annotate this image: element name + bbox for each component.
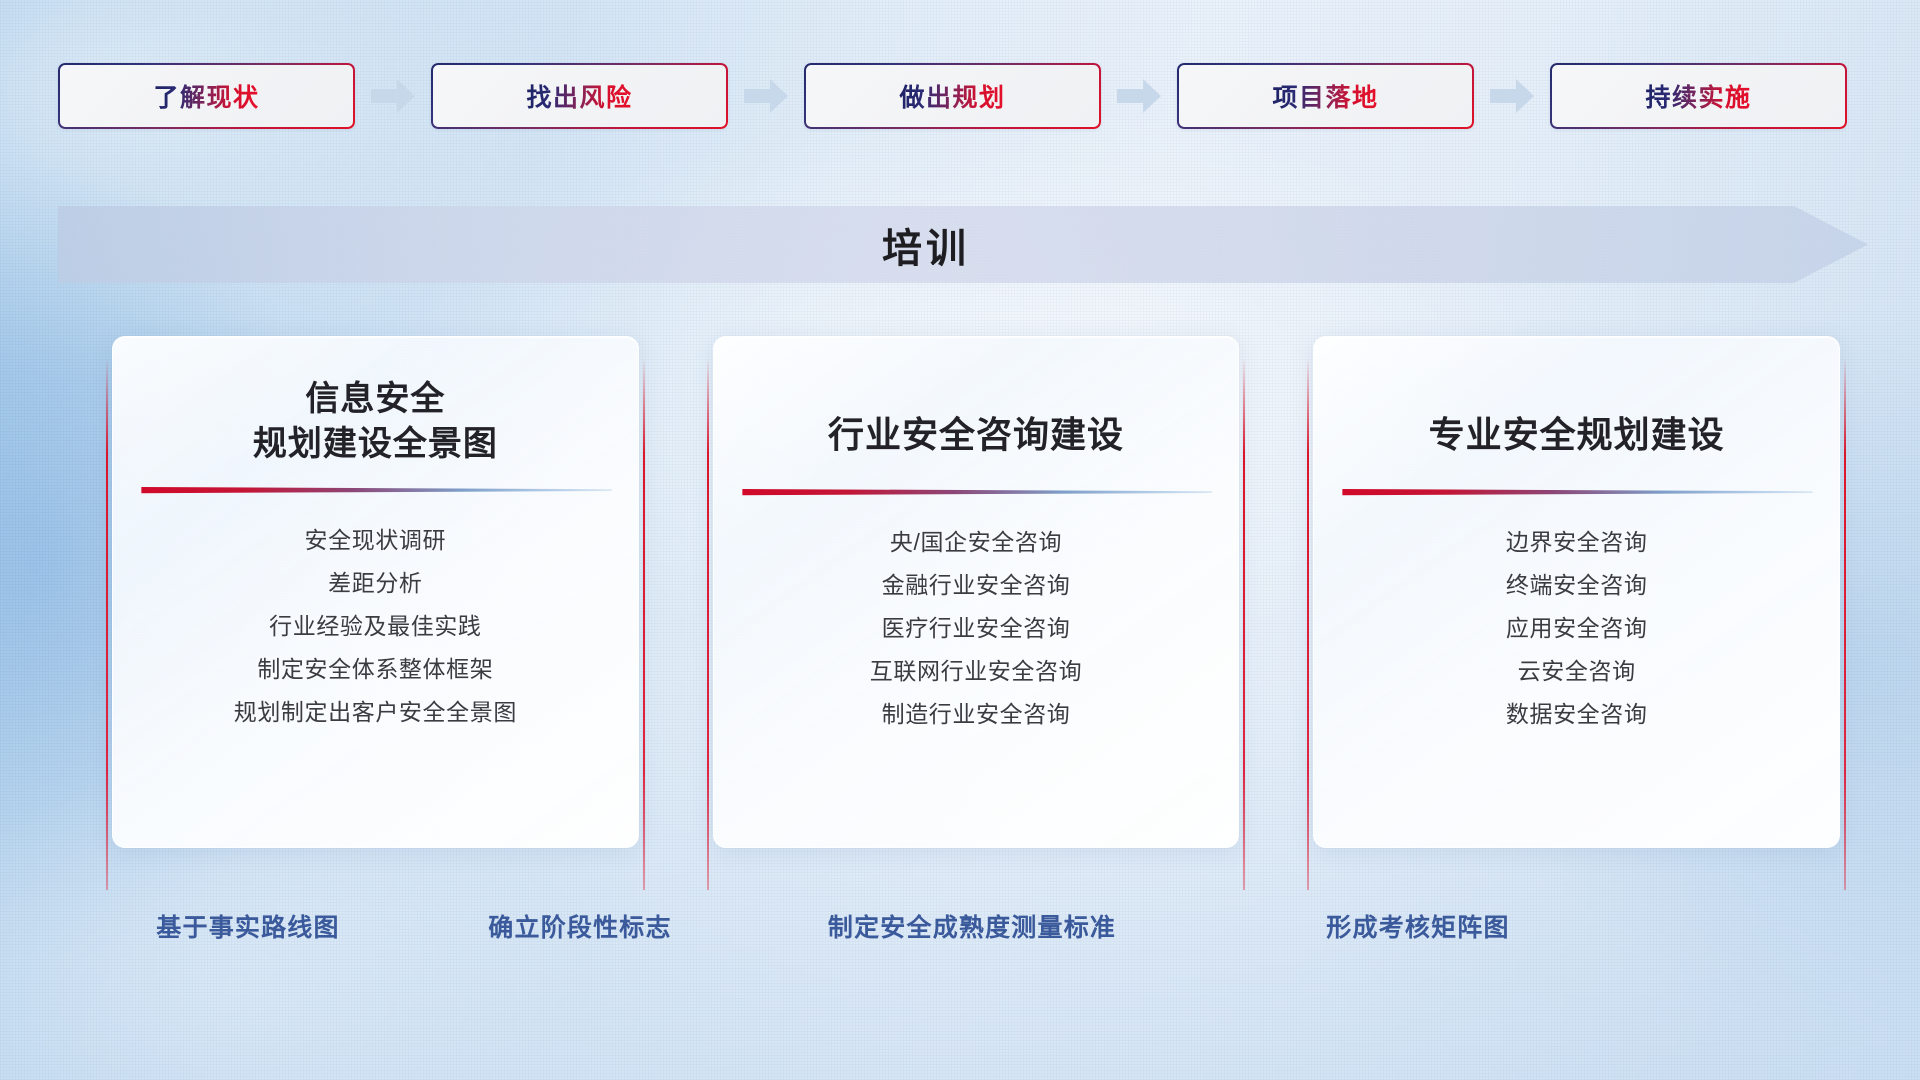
list-item: 终端安全咨询 (1340, 564, 1813, 607)
card-1-title-line-1: 信息安全 (253, 377, 498, 422)
caption-row: 基于事实路线图 确立阶段性标志 制定安全成熟度测量标准 形成考核矩阵图 (0, 908, 1920, 952)
card-2-title-line-1: 行业安全咨询建设 (828, 411, 1124, 459)
process-step-row: 了解现状 找出风险 做出规划 项目落地 持续实施 (58, 62, 1864, 130)
process-step-4-label: 项目落地 (1272, 78, 1378, 114)
card-3-title: 专业安全规划建设 (1429, 411, 1725, 459)
arrow-right-icon-4 (1474, 76, 1550, 116)
list-item: 金融行业安全咨询 (740, 564, 1213, 607)
caption-2: 确立阶段性标志 (488, 908, 671, 944)
arrow-right-icon-3 (1101, 76, 1177, 116)
card-1-list: 安全现状调研 差距分析 行业经验及最佳实践 制定安全体系整体框架 规划制定出客户… (139, 519, 612, 734)
card-2-edge-left (707, 358, 709, 890)
process-step-1[interactable]: 了解现状 (58, 63, 355, 129)
card-2-edge-right (1243, 358, 1245, 890)
card-3-edge-right (1844, 358, 1846, 890)
card-3-divider (1340, 487, 1813, 497)
process-step-1-label: 了解现状 (153, 78, 259, 114)
list-item: 数据安全咨询 (1340, 693, 1813, 736)
list-item: 应用安全咨询 (1340, 607, 1813, 650)
list-item: 规划制定出客户安全全景图 (139, 691, 612, 734)
list-item: 云安全咨询 (1340, 650, 1813, 693)
caption-1: 基于事实路线图 (156, 908, 339, 944)
list-item: 制定安全体系整体框架 (139, 648, 612, 691)
arrow-right-icon-2 (728, 76, 804, 116)
card-1-title: 信息安全 规划建设全景图 (253, 377, 498, 467)
list-item: 差距分析 (139, 562, 612, 605)
card-1-divider (139, 485, 612, 495)
list-item: 行业经验及最佳实践 (139, 605, 612, 648)
list-item: 医疗行业安全咨询 (740, 607, 1213, 650)
arrow-right-icon-1 (355, 76, 431, 116)
process-step-4[interactable]: 项目落地 (1177, 63, 1474, 129)
caption-4: 形成考核矩阵图 (1326, 908, 1509, 944)
process-step-2[interactable]: 找出风险 (431, 63, 728, 129)
list-item: 安全现状调研 (139, 519, 612, 562)
card-2-body: 行业安全咨询建设 (713, 336, 1240, 848)
list-item: 互联网行业安全咨询 (740, 650, 1213, 693)
caption-3: 制定安全成熟度测量标准 (828, 908, 1116, 944)
list-item: 制造行业安全咨询 (740, 693, 1213, 736)
card-3-edge-left (1307, 358, 1309, 890)
training-banner-title: 培训 (58, 206, 1868, 283)
card-professional-security-planning[interactable]: 专业安全规划建设 (1307, 336, 1846, 874)
card-2-divider (740, 487, 1213, 497)
card-2-list: 央/国企安全咨询 金融行业安全咨询 医疗行业安全咨询 互联网行业安全咨询 制造行… (740, 521, 1213, 736)
list-item: 央/国企安全咨询 (740, 521, 1213, 564)
card-1-title-line-2: 规划建设全景图 (253, 422, 498, 467)
process-step-5[interactable]: 持续实施 (1550, 63, 1847, 129)
process-step-2-label: 找出风险 (526, 78, 632, 114)
card-1-body: 信息安全 规划建设全景图 (112, 336, 639, 848)
card-1-edge-left (106, 358, 108, 890)
card-3-title-line-1: 专业安全规划建设 (1429, 411, 1725, 459)
list-item: 边界安全咨询 (1340, 521, 1813, 564)
training-banner: 培训 (58, 206, 1868, 283)
process-step-5-label: 持续实施 (1645, 78, 1751, 114)
card-1-edge-right (643, 358, 645, 890)
card-3-list: 边界安全咨询 终端安全咨询 应用安全咨询 云安全咨询 数据安全咨询 (1340, 521, 1813, 736)
card-information-security-blueprint[interactable]: 信息安全 规划建设全景图 (106, 336, 645, 874)
process-step-3-label: 做出规划 (899, 78, 1005, 114)
card-3-body: 专业安全规划建设 (1313, 336, 1840, 848)
card-row: 信息安全 规划建设全景图 (106, 336, 1846, 876)
card-industry-security-consulting[interactable]: 行业安全咨询建设 (707, 336, 1246, 874)
process-step-3[interactable]: 做出规划 (804, 63, 1101, 129)
card-2-title: 行业安全咨询建设 (828, 411, 1124, 459)
